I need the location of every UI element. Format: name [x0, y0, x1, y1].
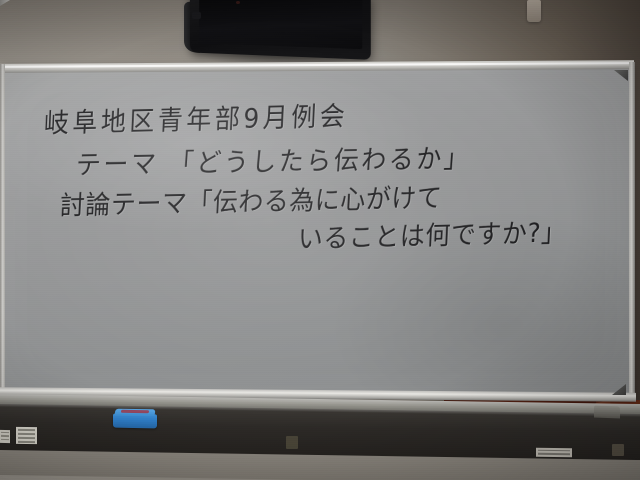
- marker-tray-bracket-right: [612, 444, 624, 456]
- marker-tray-bracket-center: [286, 436, 298, 449]
- monitor-indicator-led: [236, 1, 240, 4]
- marker-tray-end-cap: [594, 406, 620, 419]
- whiteboard-frame-right: [629, 62, 635, 398]
- eraser-stripe: [121, 410, 150, 413]
- monitor-mount-bracket: [192, 12, 201, 19]
- wall-mounted-monitor: [190, 0, 371, 60]
- whiteboard-eraser: [113, 409, 157, 429]
- tray-sticker-far-left: [0, 430, 10, 443]
- wall-speaker-fixture: [527, 0, 541, 22]
- tray-sticker-left: [16, 427, 37, 444]
- handwritten-title-line: 岐阜地区青年部9月例会: [43, 95, 349, 141]
- whiteboard-handwriting: 岐阜地区青年部9月例会 テーマ 「どうしたら伝わるか」 討論テーマ「伝わる為に心…: [2, 66, 630, 399]
- tray-sticker-right: [536, 448, 572, 458]
- monitor-screen: [199, 0, 362, 49]
- handwritten-theme-line: テーマ 「どうしたら伝わるか」: [75, 138, 473, 183]
- whiteboard-photo-scene: 岐阜地区青年部9月例会 テーマ 「どうしたら伝わるか」 討論テーマ「伝わる為に心…: [0, 0, 640, 480]
- handwritten-discussion-line-2: いることは何ですか?」: [297, 212, 567, 256]
- whiteboard-frame-left: [0, 64, 5, 398]
